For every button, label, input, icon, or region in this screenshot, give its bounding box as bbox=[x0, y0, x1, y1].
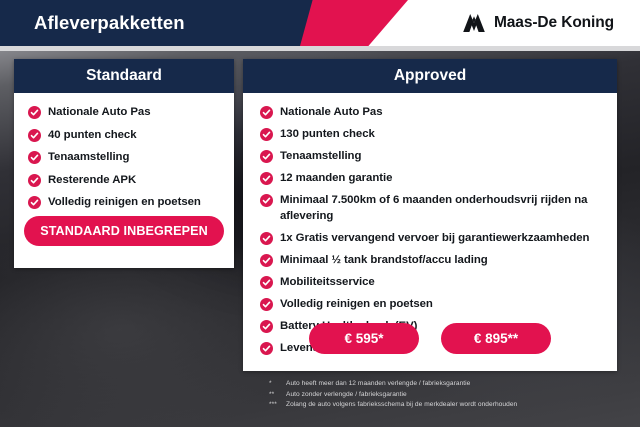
check-circle-icon bbox=[28, 151, 41, 164]
check-circle-icon bbox=[260, 232, 273, 245]
header-pink-diagonal bbox=[300, 0, 480, 46]
footnote-marker: ** bbox=[269, 390, 283, 401]
brand-name: Maas-De Koning bbox=[494, 14, 614, 32]
maas-de-koning-m-logo-icon bbox=[462, 13, 486, 33]
check-circle-icon bbox=[28, 106, 41, 119]
list-item-label: 12 maanden garantie bbox=[280, 171, 392, 187]
footnote-triple-asterisk: *** Zolang de auto volgens fabrieksschem… bbox=[269, 400, 629, 411]
approved-feature-list: Nationale Auto Pas 130 punten check Tena… bbox=[243, 93, 617, 356]
list-item-label: Minimaal ½ tank brandstof/accu lading bbox=[280, 253, 488, 269]
header-underline bbox=[0, 46, 640, 51]
list-item-label: 1x Gratis vervangend vervoer bij garanti… bbox=[280, 231, 589, 247]
list-item-label: Minimaal 7.500km of 6 maanden onderhouds… bbox=[280, 193, 607, 224]
approved-package-card: Approved Nationale Auto Pas 130 punten c… bbox=[243, 59, 617, 371]
standard-package-card: Standaard Nationale Auto Pas 40 punten c… bbox=[14, 59, 234, 268]
list-item-label: 40 punten check bbox=[48, 128, 137, 144]
list-item: 12 maanden garantie bbox=[243, 171, 617, 187]
list-item: 130 punten check bbox=[243, 127, 617, 143]
list-item-label: Mobiliteitsservice bbox=[280, 275, 375, 291]
list-item: Nationale Auto Pas bbox=[243, 105, 617, 121]
check-circle-icon bbox=[260, 276, 273, 289]
approved-card-heading: Approved bbox=[243, 59, 617, 93]
check-circle-icon bbox=[28, 174, 41, 187]
list-item: Volledig reinigen en poetsen bbox=[14, 195, 234, 211]
list-item-label: Volledig reinigen en poetsen bbox=[48, 195, 201, 211]
footnotes-block: * Auto heeft meer dan 12 maanden verleng… bbox=[269, 379, 629, 411]
list-item-label: Resterende APK bbox=[48, 173, 136, 189]
footnote-double-asterisk: ** Auto zonder verlengde / fabrieksgaran… bbox=[269, 390, 629, 401]
list-item: Nationale Auto Pas bbox=[14, 105, 234, 121]
list-item: Tenaamstelling bbox=[243, 149, 617, 165]
list-item: Minimaal 7.500km of 6 maanden onderhouds… bbox=[243, 193, 617, 224]
standard-feature-list: Nationale Auto Pas 40 punten check Tenaa… bbox=[14, 93, 234, 211]
slide-root: Afleverpakketten Maas-De Koning Standaar… bbox=[0, 0, 640, 427]
list-item-label: Nationale Auto Pas bbox=[48, 105, 150, 121]
standard-button-row: STANDAARD INBEGREPEN bbox=[14, 216, 234, 246]
price-button-row: € 595* € 895** bbox=[243, 323, 617, 354]
brand-logo: Maas-De Koning bbox=[462, 0, 614, 46]
price-button-895[interactable]: € 895** bbox=[441, 323, 551, 354]
footnote-text: Auto heeft meer dan 12 maanden verlengde… bbox=[286, 379, 470, 390]
check-circle-icon bbox=[260, 106, 273, 119]
price-button-595[interactable]: € 595* bbox=[309, 323, 419, 354]
footnote-text: Auto zonder verlengde / fabrieksgarantie bbox=[286, 390, 407, 401]
check-circle-icon bbox=[260, 172, 273, 185]
list-item: 1x Gratis vervangend vervoer bij garanti… bbox=[243, 231, 617, 247]
list-item: Resterende APK bbox=[14, 173, 234, 189]
check-circle-icon bbox=[28, 129, 41, 142]
list-item-label: Tenaamstelling bbox=[48, 150, 129, 166]
list-item-label: 130 punten check bbox=[280, 127, 375, 143]
check-circle-icon bbox=[260, 254, 273, 267]
check-circle-icon bbox=[260, 298, 273, 311]
footnote-text: Zolang de auto volgens fabrieksschema bi… bbox=[286, 400, 517, 411]
standaard-inbegrepen-button[interactable]: STANDAARD INBEGREPEN bbox=[24, 216, 224, 246]
standard-card-heading: Standaard bbox=[14, 59, 234, 93]
check-circle-icon bbox=[260, 150, 273, 163]
list-item-label: Nationale Auto Pas bbox=[280, 105, 382, 121]
check-circle-icon bbox=[260, 128, 273, 141]
check-circle-icon bbox=[260, 194, 273, 207]
list-item: 40 punten check bbox=[14, 128, 234, 144]
list-item: Volledig reinigen en poetsen bbox=[243, 297, 617, 313]
list-item: Tenaamstelling bbox=[14, 150, 234, 166]
footnote-single-asterisk: * Auto heeft meer dan 12 maanden verleng… bbox=[269, 379, 629, 390]
check-circle-icon bbox=[28, 196, 41, 209]
list-item-label: Volledig reinigen en poetsen bbox=[280, 297, 433, 313]
footnote-marker: * bbox=[269, 379, 283, 390]
list-item: Minimaal ½ tank brandstof/accu lading bbox=[243, 253, 617, 269]
page-title: Afleverpakketten bbox=[34, 0, 185, 46]
list-item: Mobiliteitsservice bbox=[243, 275, 617, 291]
list-item-label: Tenaamstelling bbox=[280, 149, 361, 165]
page-header: Afleverpakketten Maas-De Koning bbox=[0, 0, 640, 46]
footnote-marker: *** bbox=[269, 400, 283, 411]
